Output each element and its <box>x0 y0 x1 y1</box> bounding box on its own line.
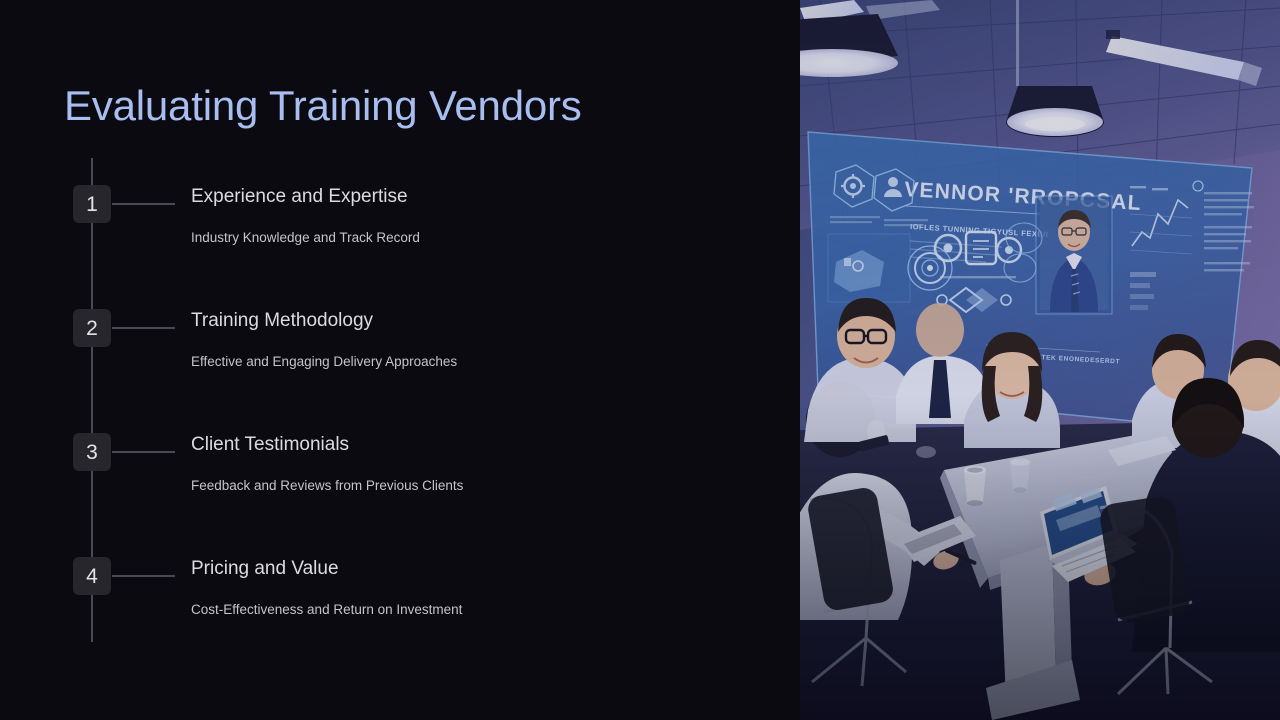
step-subtitle: Industry Knowledge and Track Record <box>191 229 420 247</box>
connector-line <box>112 203 175 205</box>
list-item[interactable]: 4 Pricing and Value Cost-Effectiveness a… <box>0 557 800 657</box>
connector-line <box>112 327 175 329</box>
step-number-badge: 4 <box>73 557 111 595</box>
connector-line <box>112 575 175 577</box>
connector-line <box>112 451 175 453</box>
step-number-badge: 2 <box>73 309 111 347</box>
step-number-badge: 3 <box>73 433 111 471</box>
step-number-badge: 1 <box>73 185 111 223</box>
timeline-list: 1 Experience and Expertise Industry Know… <box>0 0 800 720</box>
slide: Evaluating Training Vendors 1 Experience… <box>0 0 1280 720</box>
step-heading: Training Methodology <box>191 309 373 334</box>
step-heading: Client Testimonials <box>191 433 349 458</box>
list-item[interactable]: 1 Experience and Expertise Industry Know… <box>0 185 800 285</box>
list-item[interactable]: 3 Client Testimonials Feedback and Revie… <box>0 433 800 533</box>
meeting-room-photo: VENNOR 'RROPCSAL IOFLES TUNNING TIGYUSL … <box>800 0 1280 720</box>
step-subtitle: Effective and Engaging Delivery Approach… <box>191 353 457 371</box>
step-heading: Experience and Expertise <box>191 185 408 210</box>
content-panel: Evaluating Training Vendors 1 Experience… <box>0 0 800 720</box>
list-item[interactable]: 2 Training Methodology Effective and Eng… <box>0 309 800 409</box>
step-heading: Pricing and Value <box>191 557 339 582</box>
step-subtitle: Feedback and Reviews from Previous Clien… <box>191 477 463 495</box>
step-subtitle: Cost-Effectiveness and Return on Investm… <box>191 601 462 619</box>
